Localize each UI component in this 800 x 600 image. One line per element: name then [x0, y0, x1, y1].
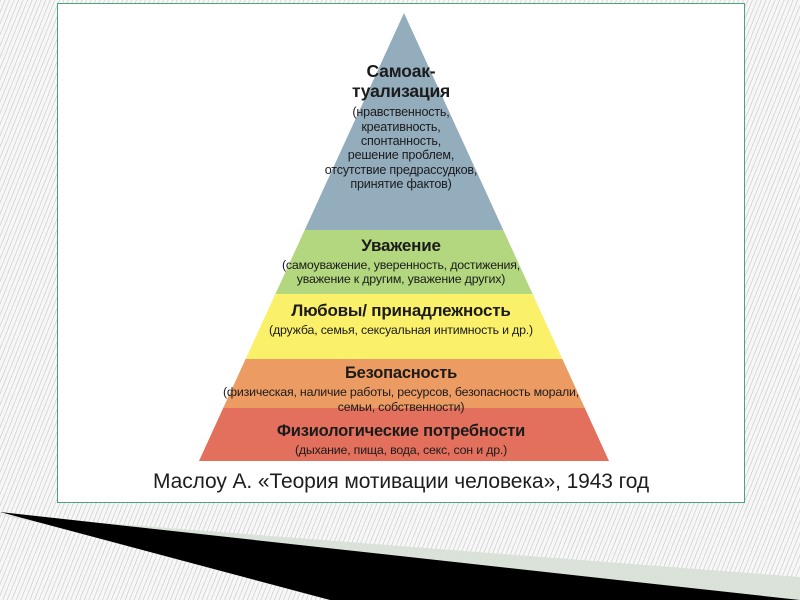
tier-shape-physiological[interactable]: [199, 408, 609, 461]
tier-shape-self-actualization[interactable]: [305, 13, 504, 230]
pyramid-caption: Маслоу А. «Теория мотивации человека», 1…: [58, 470, 744, 494]
pyramid-shape: [58, 4, 744, 464]
tier-shape-love[interactable]: [246, 294, 563, 359]
tier-shape-safety[interactable]: [223, 359, 585, 408]
maslow-pyramid: Самоак-туализация (нравственность,креати…: [58, 4, 744, 464]
content-card: Самоак-туализация (нравственность,креати…: [57, 3, 745, 503]
tier-shape-esteem[interactable]: [275, 230, 532, 294]
